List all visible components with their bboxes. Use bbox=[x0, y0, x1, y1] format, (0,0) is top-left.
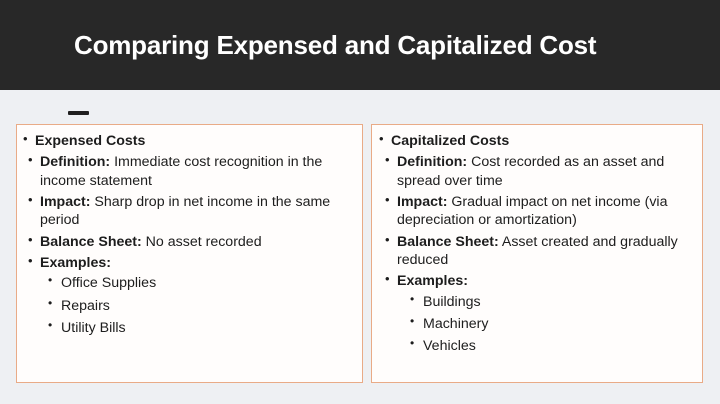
list-item: Balance Sheet: No asset recorded bbox=[23, 233, 356, 251]
list-item: Impact: Sharp drop in net income in the … bbox=[23, 193, 356, 230]
list-item: Impact: Gradual impact on net income (vi… bbox=[378, 193, 696, 230]
list-item: Office Supplies bbox=[40, 274, 356, 292]
page-title: Comparing Expensed and Capitalized Cost bbox=[74, 31, 596, 60]
item-label-balance-sheet: Balance Sheet: bbox=[40, 234, 142, 250]
examples-list-expensed: Office Supplies Repairs Utility Bills bbox=[40, 274, 356, 337]
item-label-definition: Definition: bbox=[40, 154, 110, 170]
item-label-examples: Examples: bbox=[397, 273, 468, 289]
comparison-panels: Expensed Costs Definition: Immediate cos… bbox=[0, 124, 720, 384]
item-text-balance-sheet: No asset recorded bbox=[142, 234, 262, 250]
list-item: Vehicles bbox=[397, 337, 696, 355]
panel-heading-capitalized: Capitalized Costs bbox=[391, 133, 509, 149]
list-item: Definition: Cost recorded as an asset an… bbox=[378, 153, 696, 190]
list-item: Examples: Office Supplies Repairs Utilit… bbox=[23, 254, 356, 337]
accent-dash-marker bbox=[68, 111, 89, 115]
slide-header-bar: Comparing Expensed and Capitalized Cost bbox=[0, 0, 720, 90]
list-item-heading: Expensed Costs bbox=[23, 132, 356, 150]
item-label-balance-sheet: Balance Sheet: bbox=[397, 234, 499, 250]
list-item: Repairs bbox=[40, 297, 356, 315]
item-label-impact: Impact: bbox=[40, 194, 90, 210]
item-label-examples: Examples: bbox=[40, 255, 111, 271]
bullet-list-expensed: Expensed Costs Definition: Immediate cos… bbox=[23, 132, 356, 337]
examples-list-capitalized: Buildings Machinery Vehicles bbox=[397, 293, 696, 356]
list-item: Machinery bbox=[397, 315, 696, 333]
panel-capitalized-costs: Capitalized Costs Definition: Cost recor… bbox=[371, 124, 703, 383]
panel-heading-expensed: Expensed Costs bbox=[35, 133, 145, 149]
list-item: Definition: Immediate cost recognition i… bbox=[23, 153, 356, 190]
list-item: Utility Bills bbox=[40, 319, 356, 337]
slide-root: Comparing Expensed and Capitalized Cost … bbox=[0, 0, 720, 404]
list-item: Buildings bbox=[397, 293, 696, 311]
item-label-definition: Definition: bbox=[397, 154, 467, 170]
list-item: Examples: Buildings Machinery Vehicles bbox=[378, 272, 696, 355]
panel-expensed-costs: Expensed Costs Definition: Immediate cos… bbox=[16, 124, 363, 383]
list-item-heading: Capitalized Costs bbox=[378, 132, 696, 150]
item-label-impact: Impact: bbox=[397, 194, 447, 210]
bullet-list-capitalized: Capitalized Costs Definition: Cost recor… bbox=[378, 132, 696, 355]
list-item: Balance Sheet: Asset created and gradual… bbox=[378, 233, 696, 270]
